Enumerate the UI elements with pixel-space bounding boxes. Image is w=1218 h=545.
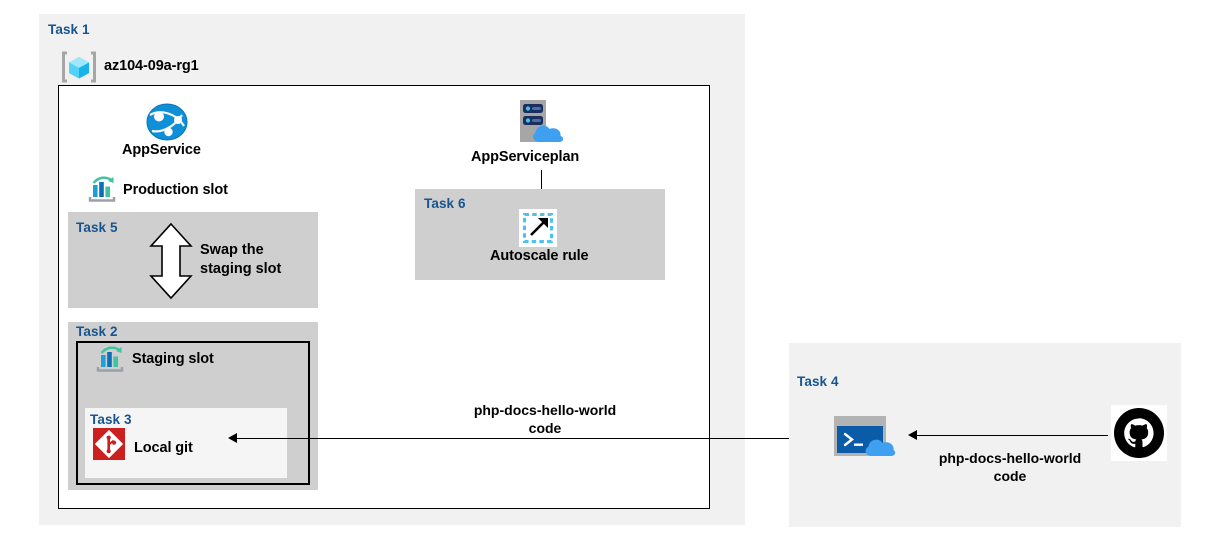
group-task4-label: Task 4 (797, 374, 839, 389)
connector-shell-to-git-label: php-docs-hello-world code (443, 401, 647, 438)
production-slot-label: Production slot (123, 182, 228, 198)
connector-github-to-shell-label-line1: php-docs-hello-world (908, 449, 1112, 467)
github-icon (1111, 405, 1167, 461)
resource-group-icon (61, 49, 97, 85)
connector-github-to-shell-label: php-docs-hello-world code (908, 449, 1112, 486)
cloud-shell-icon (832, 414, 898, 460)
connector-shell-to-git (233, 438, 829, 439)
deployment-slot-icon-staging (96, 345, 126, 373)
group-task5-label: Task 5 (76, 220, 118, 235)
autoscale-rule-label: Autoscale rule (490, 248, 589, 264)
app-service-plan-icon (513, 98, 571, 146)
swap-slot-label-line1: Swap the (200, 241, 312, 260)
connector-github-to-shell (914, 435, 1108, 436)
swap-arrows-icon (146, 222, 196, 300)
swap-slot-label-line2: staging slot (200, 260, 312, 279)
deployment-slot-icon-production (88, 175, 118, 203)
autoscale-icon (519, 209, 557, 247)
app-service-plan-label: AppServiceplan (471, 149, 579, 165)
group-task3-label: Task 3 (90, 412, 132, 427)
staging-slot-label: Staging slot (132, 351, 214, 367)
app-service-icon (146, 103, 188, 141)
group-task6-label: Task 6 (424, 196, 466, 211)
connector-shell-to-git-label-line2: code (443, 419, 647, 437)
connector-github-to-shell-arrowhead (908, 430, 917, 440)
local-git-label: Local git (134, 440, 193, 456)
git-icon (93, 428, 125, 460)
app-service-label: AppService (122, 142, 201, 158)
connector-github-to-shell-label-line2: code (908, 467, 1112, 485)
diagram-canvas: Task 1 az104-09a-rg1 AppService (0, 0, 1218, 545)
connector-shell-to-git-arrowhead (228, 433, 237, 443)
resource-group-label: az104-09a-rg1 (104, 58, 199, 74)
group-task2-label: Task 2 (76, 324, 118, 339)
connector-shell-to-git-label-line1: php-docs-hello-world (443, 401, 647, 419)
group-task1-label: Task 1 (48, 22, 90, 37)
swap-slot-label: Swap the staging slot (200, 241, 312, 279)
